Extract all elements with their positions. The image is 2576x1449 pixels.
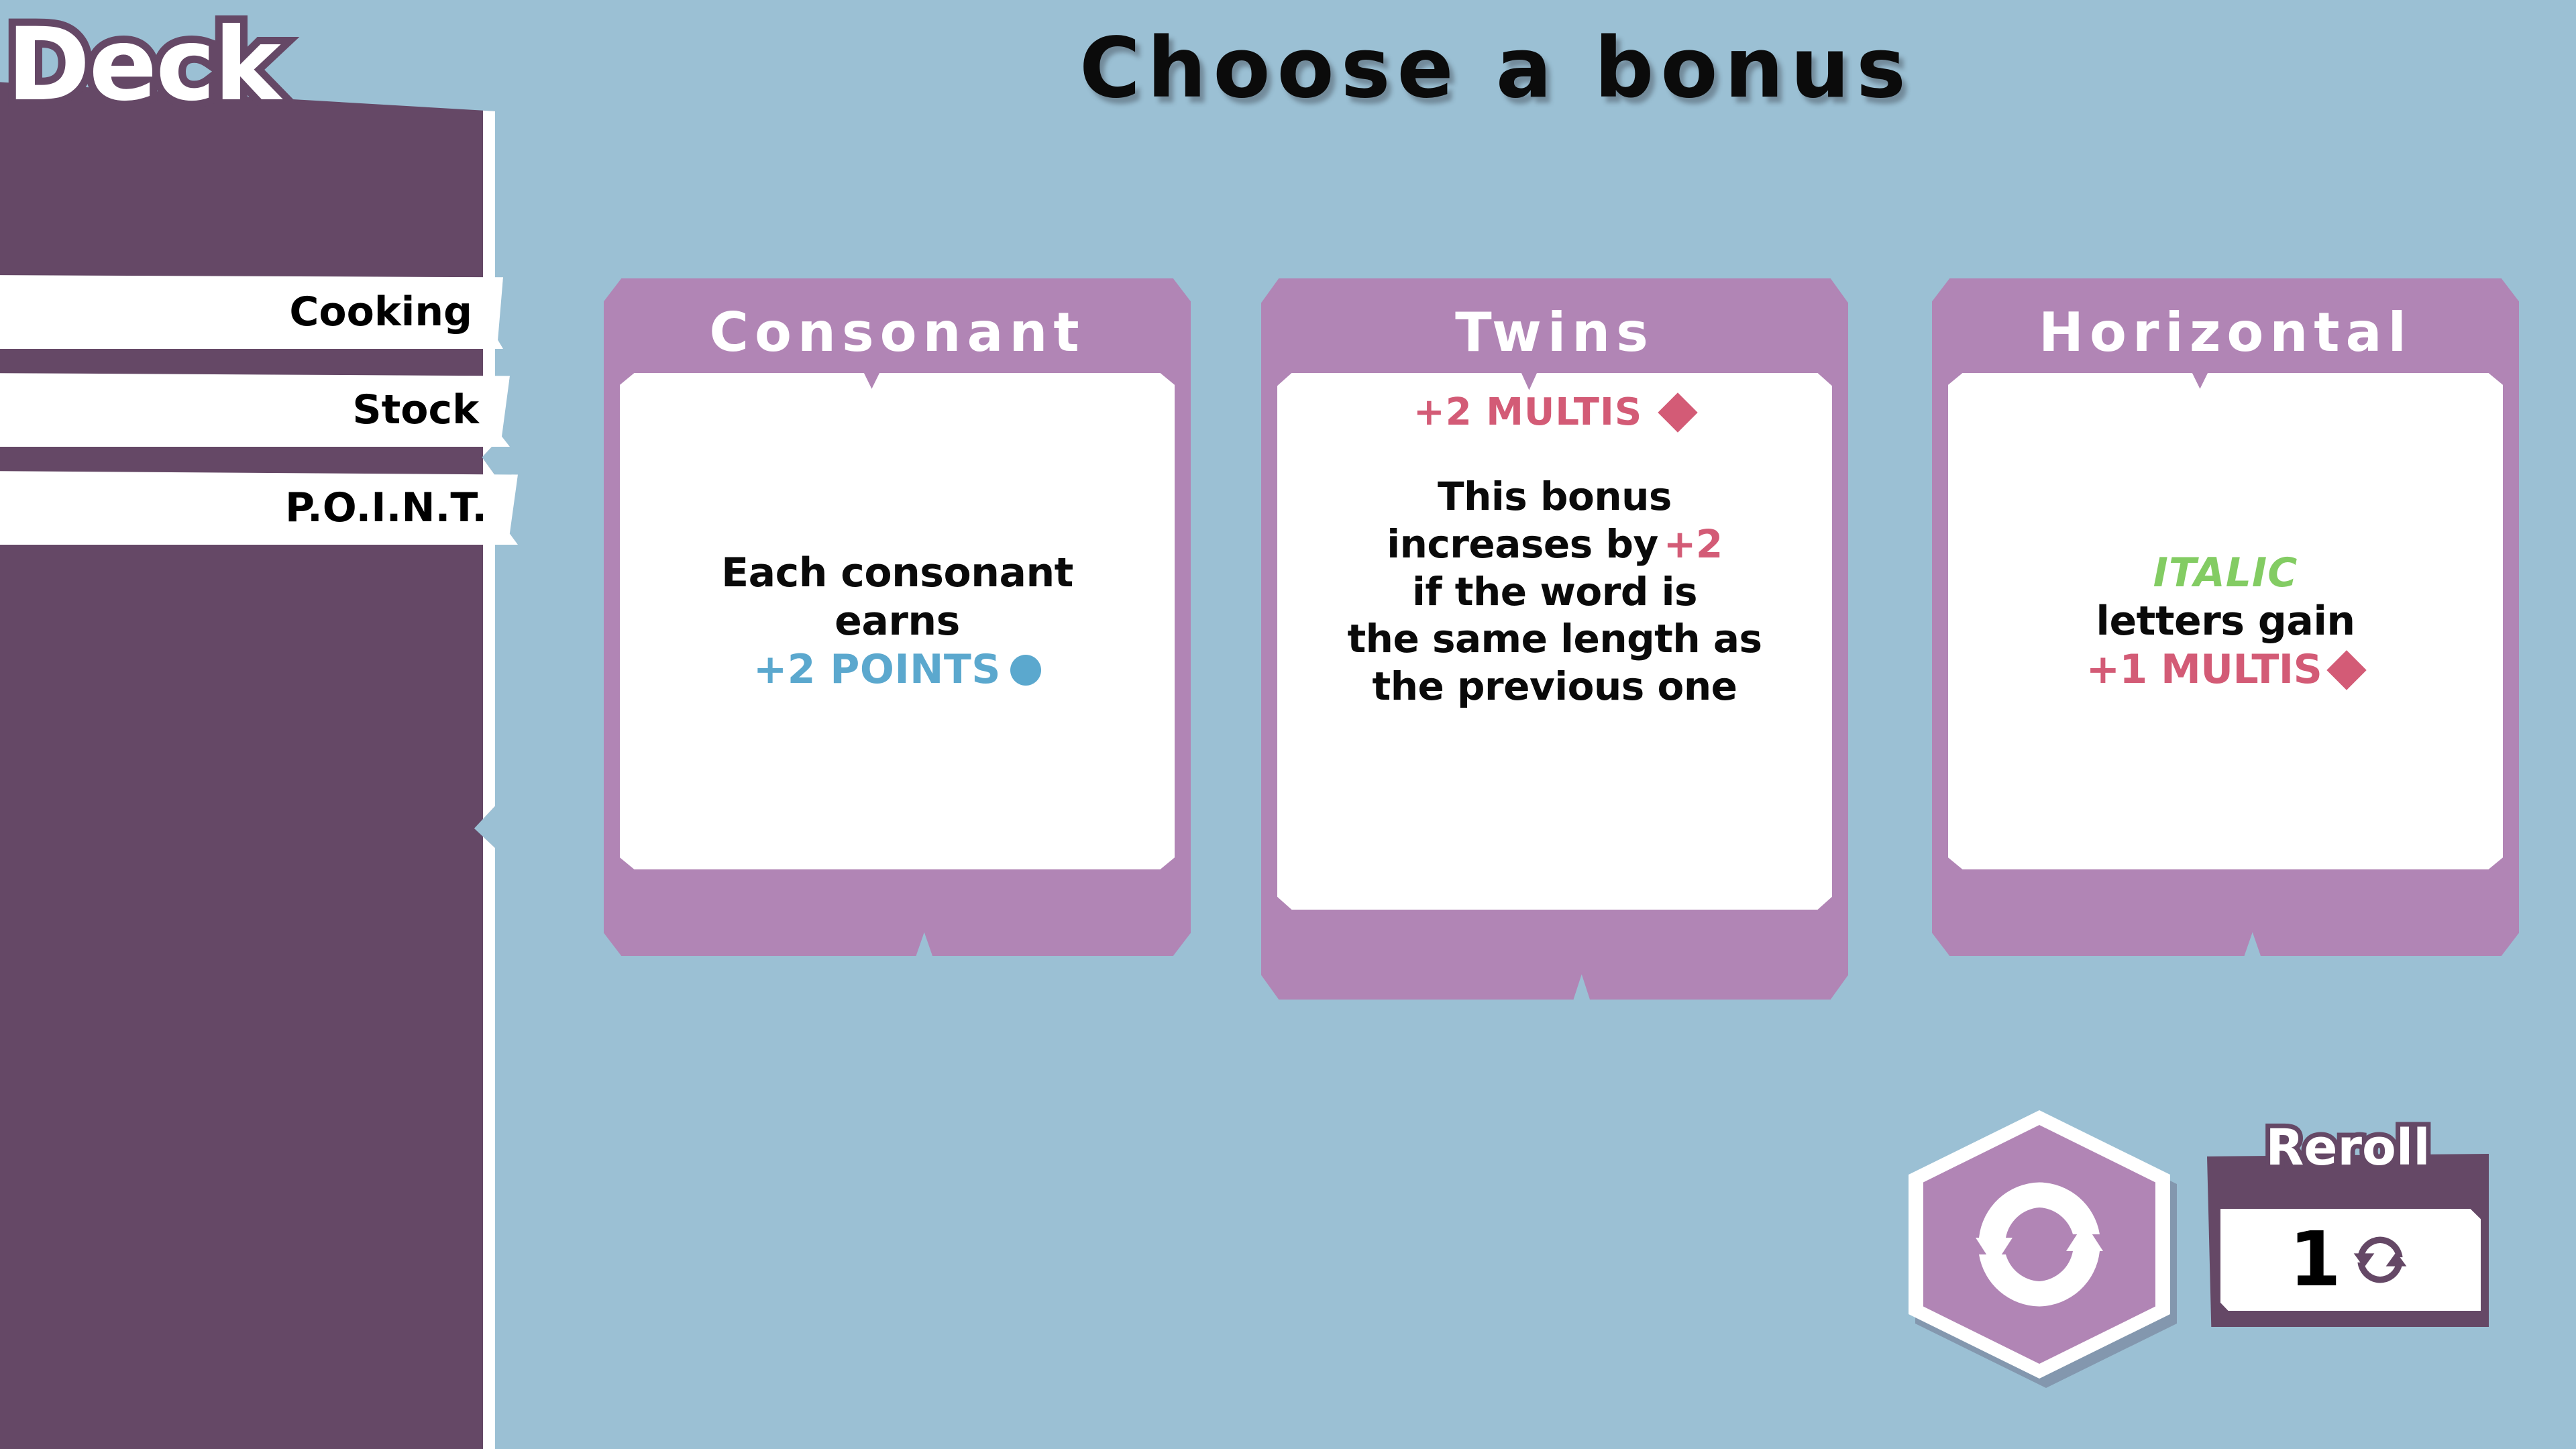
bonus-card-title: Twins (1261, 278, 1848, 373)
bonus-style-word: ITALIC (2086, 549, 2365, 597)
reroll-button[interactable] (1909, 1110, 2170, 1379)
reroll-count-value: 1 (2289, 1222, 2341, 1297)
bonus-multis-header: +2 MULTIS (1413, 390, 1696, 434)
bonus-multis-value: +2 MULTIS (1413, 390, 1642, 434)
pink-diamond-icon (1658, 392, 1697, 432)
deck-row-label: P.O.I.N.T. (285, 484, 487, 531)
bonus-value-row: +2 POINTS (721, 645, 1073, 694)
bonus-card-title: Horizontal (1932, 278, 2519, 373)
deck-row[interactable]: Cooking (0, 275, 503, 349)
bonus-description-line: letters gain (2086, 597, 2365, 645)
bonus-description-line: Each consonant (721, 549, 1073, 597)
bonus-multis-value: +1 MULTIS (2086, 646, 2322, 693)
bonus-card-description: Each consonant earns +2 POINTS (721, 549, 1073, 694)
deck-panel[interactable]: Deck Cooking Stock P.O.I.N.T. (0, 80, 510, 1449)
bonus-description-line: increases by+2 (1347, 521, 1762, 568)
pink-diamond-icon (2327, 650, 2367, 690)
bonus-card-horizontal[interactable]: Horizontal ITALIC letters gain +1 MULTIS (1932, 278, 2519, 956)
bonus-description-line: the same length as (1347, 615, 1762, 663)
bonus-description-line: earns (721, 597, 1073, 645)
bonus-description-line: This bonus (1347, 473, 1762, 521)
deck-row[interactable]: P.O.I.N.T. (0, 471, 518, 545)
deck-row-label: Stock (352, 386, 479, 433)
bonus-card-list: Consonant Each consonant earns +2 POINTS… (604, 278, 2536, 1010)
bonus-value-row: +1 MULTIS (2086, 645, 2365, 694)
bonus-card-description: ITALIC letters gain +1 MULTIS (2086, 549, 2365, 694)
bonus-card-twins[interactable]: Twins +2 MULTIS This bonus increases by+… (1261, 278, 1848, 1000)
reroll-counter-face: 1 (2220, 1209, 2481, 1311)
refresh-icon (2348, 1228, 2412, 1292)
deck-row[interactable]: Stock (0, 373, 510, 447)
game-screen: Deck Cooking Stock P.O.I.N.T. Choose a b… (0, 0, 2576, 1449)
reroll-counter-panel: Reroll 1 (2207, 1134, 2502, 1328)
deck-row-list: Cooking Stock P.O.I.N.T. (0, 275, 510, 569)
bonus-points-value: +2 POINTS (753, 646, 1001, 693)
deck-panel-title: Deck (7, 7, 280, 123)
bonus-card-face: +2 MULTIS This bonus increases by+2 if t… (1277, 373, 1832, 910)
bonus-card-face: ITALIC letters gain +1 MULTIS (1948, 373, 2503, 869)
bonus-card-description: This bonus increases by+2 if the word is… (1347, 473, 1762, 710)
blue-circle-icon (1010, 655, 1041, 686)
bonus-card-title: Consonant (604, 278, 1191, 373)
reroll-counter-label: Reroll (2207, 1119, 2489, 1177)
bonus-card-consonant[interactable]: Consonant Each consonant earns +2 POINTS (604, 278, 1191, 956)
deck-row-label: Cooking (289, 288, 472, 335)
page-title: Choose a bonus (892, 20, 2100, 117)
bonus-inline-value: +2 (1664, 521, 1723, 567)
refresh-icon (1955, 1161, 2123, 1328)
bonus-description-text: increases by (1387, 521, 1658, 567)
bonus-description-line: the previous one (1347, 663, 1762, 710)
bonus-card-face: Each consonant earns +2 POINTS (620, 373, 1175, 869)
bonus-description-line: if the word is (1347, 568, 1762, 616)
